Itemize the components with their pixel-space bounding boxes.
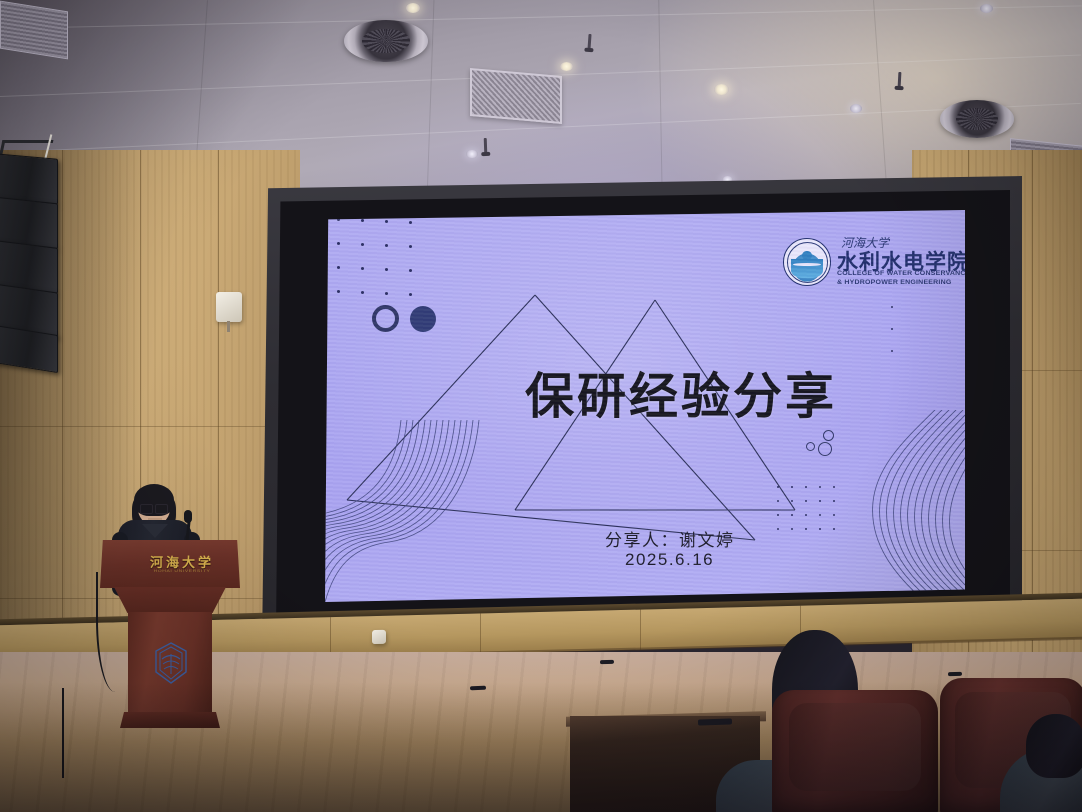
floor-object [470, 686, 486, 691]
slide-date: 2025.6.16 [625, 550, 714, 570]
presentation-room-photo: 河海大学 水利水电学院 COLLEGE OF WATER CONSERVANCY… [0, 0, 1082, 812]
slide-presenter: 分享人：谢文婷 [605, 526, 735, 551]
decor-wave-bundle-left [325, 420, 515, 602]
logo-college-en-line1: COLLEGE OF WATER CONSERVANCY [837, 271, 965, 277]
decor-small-circle [818, 442, 832, 456]
ceiling-spot-light [560, 62, 573, 71]
slide-title: 保研经验分享 [525, 357, 837, 428]
ceiling-sprinkler-icon [484, 138, 488, 154]
glasses-icon [140, 504, 168, 512]
floor-object [948, 672, 962, 676]
hohai-seal-icon [783, 238, 831, 286]
podium-base [120, 712, 220, 728]
hohai-emblem-icon [152, 642, 190, 684]
logo-college-en-line2: & HYDROPOWER ENGINEERING [837, 280, 951, 286]
ceiling-spot-light [714, 84, 729, 95]
ceiling-spot-light [850, 104, 862, 113]
ceiling-vent-grille-icon [470, 68, 562, 124]
audience-member-head-right [1026, 714, 1082, 778]
ceiling-spot-light [406, 3, 420, 13]
ceiling-sprinkler-icon [898, 72, 902, 88]
ceiling-sprinkler-icon [587, 34, 591, 50]
desk-object [698, 718, 732, 725]
line-array-speaker [0, 156, 62, 368]
ceiling-spot-light [466, 150, 478, 158]
ceiling-round-vent-icon [940, 100, 1014, 138]
floor-object [600, 660, 614, 664]
podium-neck [114, 587, 226, 613]
ceiling-spot-light [980, 4, 993, 13]
auditorium-seat[interactable] [772, 690, 938, 812]
decor-wave-bundle-right [815, 410, 965, 602]
microphone-icon [184, 510, 192, 523]
ceiling-round-vent-icon [344, 20, 428, 62]
decor-small-circle [806, 442, 815, 451]
decor-small-circle [823, 430, 834, 441]
stage-front-outlet-icon [372, 630, 386, 644]
podium-university-en: HOHAI UNIVERSITY [128, 569, 236, 574]
presentation-slide[interactable]: 河海大学 水利水电学院 COLLEGE OF WATER CONSERVANCY… [325, 210, 965, 602]
wall-mounted-speaker-icon [216, 292, 242, 322]
